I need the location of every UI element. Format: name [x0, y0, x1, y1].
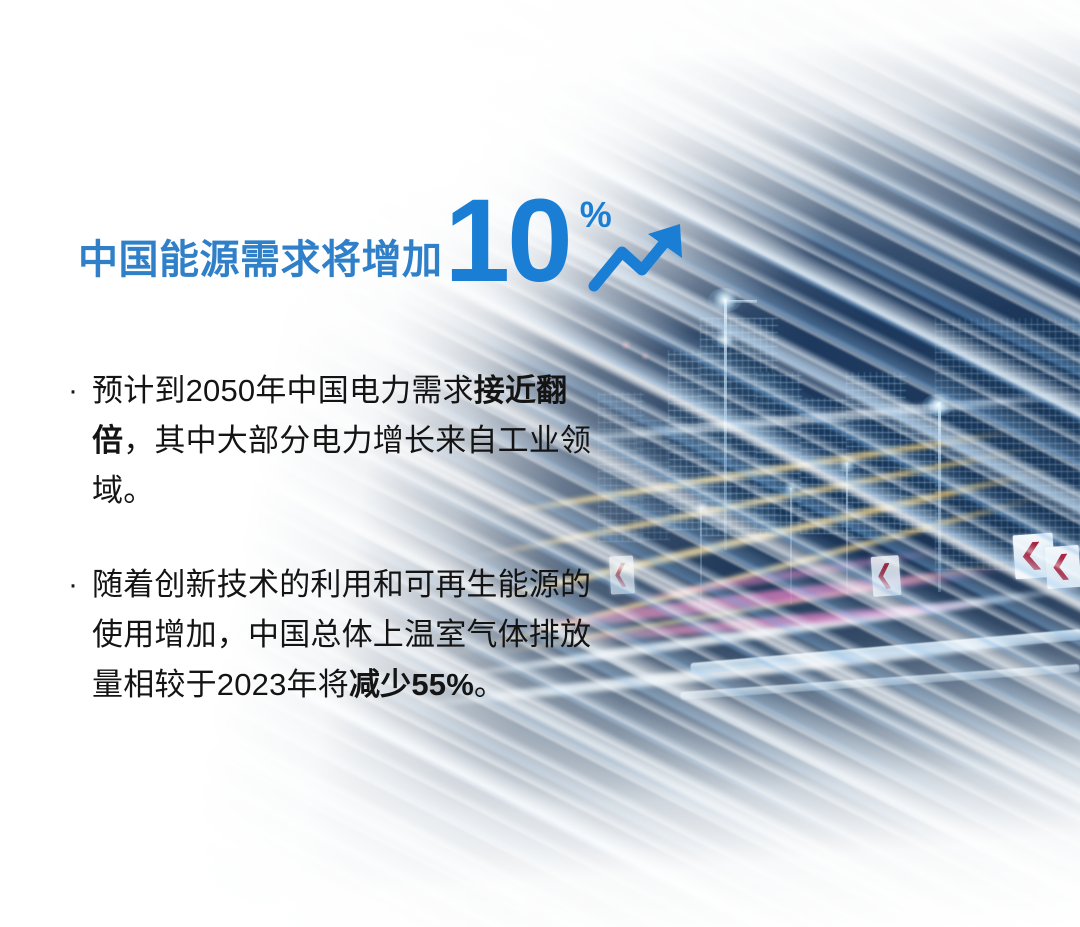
bullet-segment-emphasis: 减少55% — [349, 667, 474, 702]
upward-trend-arrow-icon — [588, 218, 688, 294]
bullet-text: 预计到2050年中国电力需求接近翻倍，其中大部分电力增长来自工业领域。 — [92, 366, 608, 516]
bullet-list: · 预计到2050年中国电力需求接近翻倍，其中大部分电力增长来自工业领域。 · … — [68, 366, 608, 754]
bullet-segment: 预计到2050年中国电力需求 — [92, 373, 474, 408]
bullet-text: 随着创新技术的利用和可再生能源的使用增加，中国总体上温室气体排放量相较于2023… — [92, 560, 608, 710]
bullet-segment: ，其中大部分电力增长来自工业领域。 — [92, 423, 591, 508]
list-item: · 预计到2050年中国电力需求接近翻倍，其中大部分电力增长来自工业领域。 — [68, 366, 608, 516]
bullet-segment: 。 — [474, 667, 505, 702]
bullet-segment: 随着创新技术的利用和可再生能源的使用增加，中国总体上温室气体排放量相较于2023… — [92, 567, 591, 702]
bullet-marker: · — [68, 560, 92, 610]
poster-content: 中国能源需求将增加 10 % · 预计到2050年中国电力需求接近翻倍，其中大部… — [0, 0, 1080, 927]
poster-canvas: 中国能源需求将增加 10 % · 预计到2050年中国电力需求接近翻倍，其中大部… — [0, 0, 1080, 927]
bullet-marker: · — [68, 366, 92, 416]
stat-number: 10 — [445, 191, 570, 292]
list-item: · 随着创新技术的利用和可再生能源的使用增加，中国总体上温室气体排放量相较于20… — [68, 560, 608, 710]
headline-lead-text: 中国能源需求将增加 — [78, 240, 443, 292]
headline-stat: 10 % — [443, 191, 612, 292]
headline: 中国能源需求将增加 10 % — [78, 168, 612, 292]
